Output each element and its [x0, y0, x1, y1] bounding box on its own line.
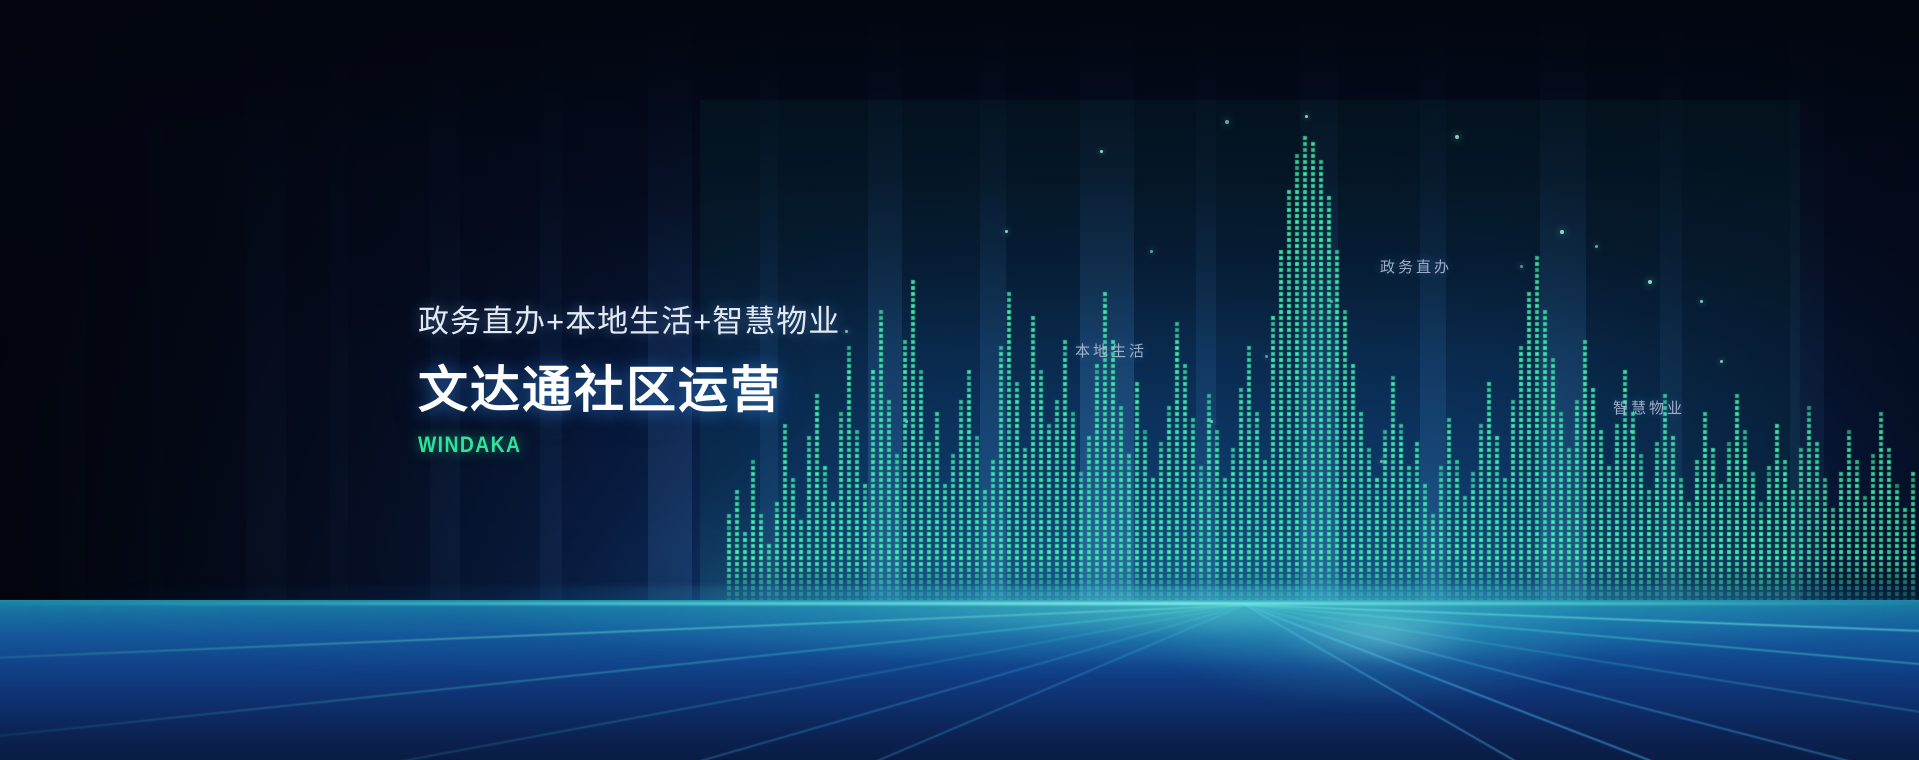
dot-matrix-skyline-chart — [0, 0, 1919, 620]
sector-tag-1: 政务直办 — [1380, 256, 1452, 277]
vanishing-point-glow — [1150, 560, 1610, 710]
hero-banner: 政务直办+本地生活+智慧物业 文达通社区运营 WINDAKA 政务直办本地生活智… — [0, 0, 1919, 760]
floor-glow — [0, 586, 1919, 676]
banner-subtitle: 政务直办+本地生活+智慧物业 — [418, 296, 840, 341]
sector-tag-2: 本地生活 — [1075, 340, 1147, 361]
headline-block: 政务直办+本地生活+智慧物业 文达通社区运营 WINDAKA — [418, 296, 840, 458]
brand-wordmark: WINDAKA — [418, 432, 790, 458]
banner-headline: 文达通社区运营 — [418, 350, 840, 422]
sector-tag-3: 智慧物业 — [1613, 397, 1685, 418]
horizon-line — [0, 602, 1919, 605]
